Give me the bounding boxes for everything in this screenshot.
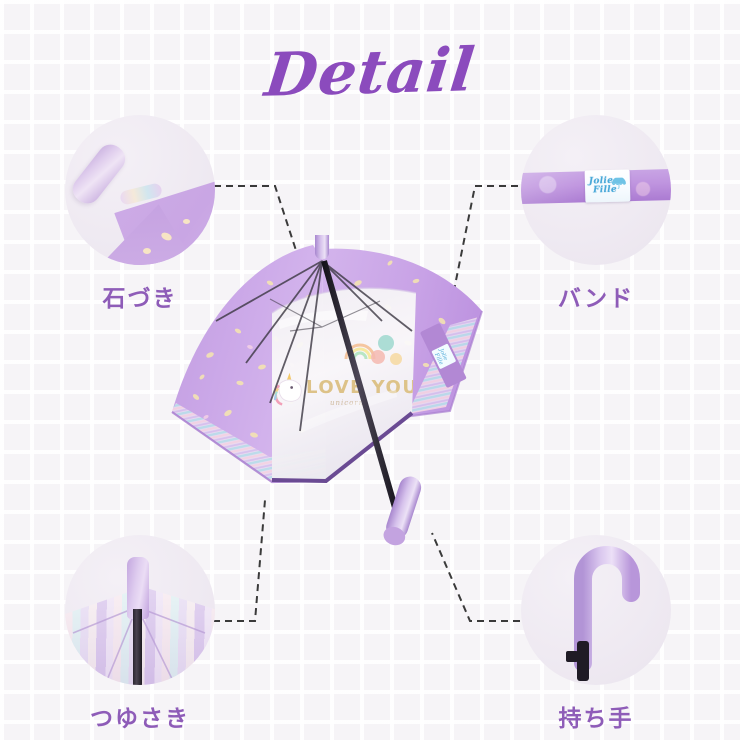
umbrella-icon [611, 177, 627, 188]
detail-tip-caption: つゆさき [65, 699, 215, 733]
umbrella-shaft-icon [133, 609, 142, 685]
detail-page: Detail 石づき [0, 0, 740, 740]
umbrella-product-image: LOVE YOU unicorn [150, 235, 580, 580]
balloon-icon [378, 335, 394, 351]
confetti-dot-icon [183, 219, 190, 224]
page-title: Detail [0, 28, 740, 117]
balloon-icon [390, 353, 402, 365]
balloon-icon [371, 350, 385, 364]
umbrella-ferrule [315, 235, 329, 259]
detail-handle-caption: 持ち手 [521, 699, 671, 733]
brand-tag: Jolie Fille [585, 169, 631, 202]
